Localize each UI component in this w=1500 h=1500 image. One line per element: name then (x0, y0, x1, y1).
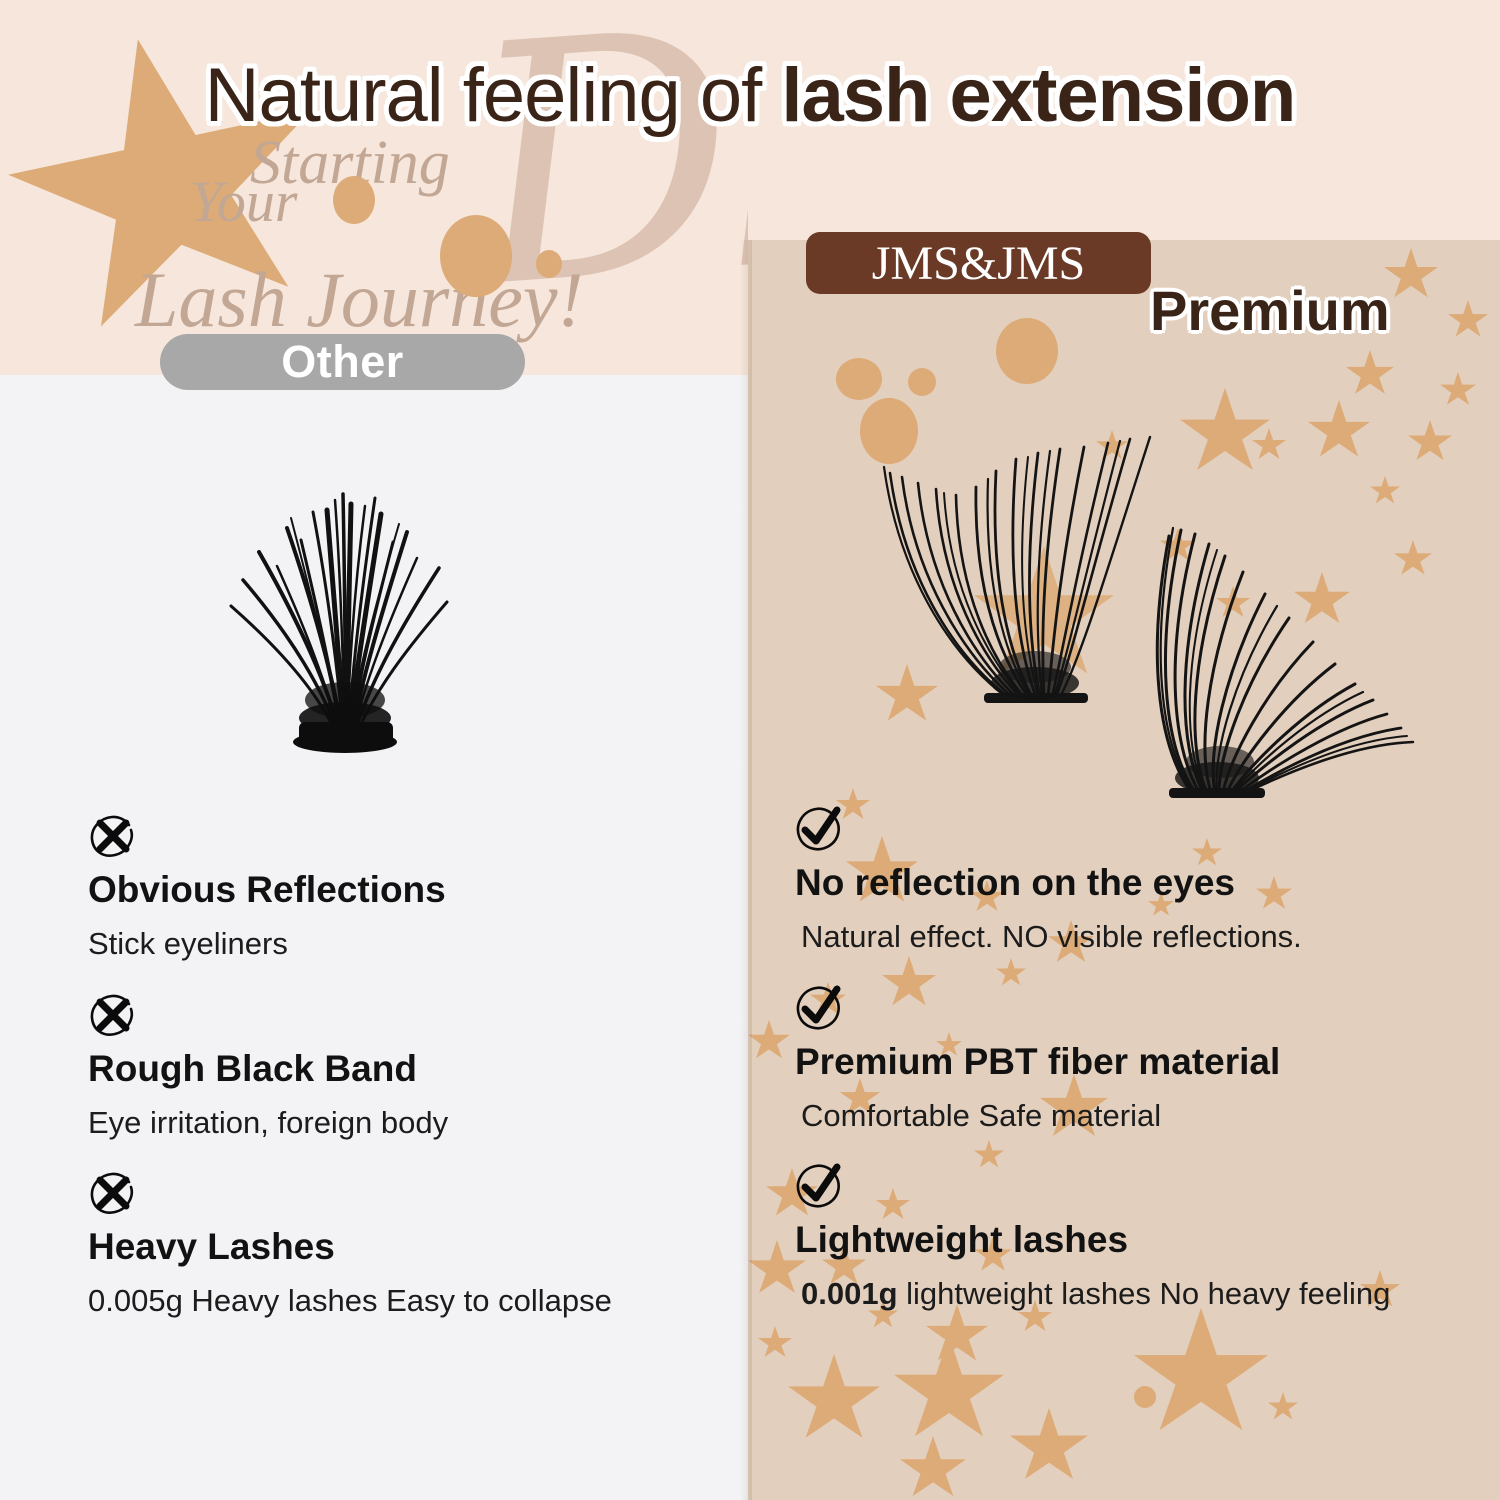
feature-list-premium: No reflection on the eyes Natural effect… (795, 805, 1455, 1341)
feature-list-other: Obvious Reflections Stick eyeliners Roug… (88, 812, 708, 1348)
decorative-star (894, 1336, 1004, 1446)
spiky-lash-cluster-image (195, 470, 495, 760)
feature-item: Heavy Lashes 0.005g Heavy lashes Easy to… (88, 1169, 708, 1320)
feature-title: No reflection on the eyes (795, 859, 1455, 906)
feature-title: Rough Black Band (88, 1045, 708, 1092)
decorative-star (758, 1326, 792, 1360)
decorative-text-lash-journey: Lash Journey! (135, 255, 583, 345)
decorative-dot (536, 250, 562, 278)
feature-subtitle: Stick eyeliners (88, 925, 708, 962)
decorative-dot (996, 318, 1058, 384)
decorative-dot (333, 176, 375, 224)
panel-divider-shadow (740, 240, 752, 1500)
feature-subtitle: 0.001g lightweight lashes No heavy feeli… (795, 1275, 1455, 1312)
feature-subtitle: Natural effect. NO visible reflections. (795, 918, 1455, 955)
decorative-star (1440, 372, 1476, 408)
infographic-root: Diy Starting Your Lash Journey! (0, 0, 1500, 1500)
feature-title: Obvious Reflections (88, 866, 708, 913)
feature-subtitle: 0.005g Heavy lashes Easy to collapse (88, 1282, 708, 1319)
decorative-star (1448, 300, 1488, 340)
decorative-star (1308, 400, 1370, 462)
feature-item: Rough Black Band Eye irritation, foreign… (88, 991, 708, 1142)
curved-lash-cluster-image-b (1125, 500, 1425, 810)
premium-label: Premium (1150, 278, 1390, 343)
cross-circle-icon (88, 812, 138, 862)
feature-item: Lightweight lashes 0.001g lightweight la… (795, 1162, 1455, 1313)
feature-title: Premium PBT fiber material (795, 1038, 1455, 1085)
decorative-star (1010, 1408, 1088, 1486)
decorative-star (900, 1436, 966, 1500)
feature-item: No reflection on the eyes Natural effect… (795, 805, 1455, 956)
decorative-star (1346, 350, 1394, 398)
decorative-text-your: Your (190, 168, 298, 235)
feature-subtitle: Eye irritation, foreign body (88, 1104, 708, 1141)
decorative-dot (908, 368, 936, 396)
page-title: Natural feeling of lash extension (0, 58, 1500, 134)
decorative-star (1408, 420, 1452, 464)
decorative-text-starting: Starting (250, 128, 450, 199)
feature-subtitle: Comfortable Safe material (795, 1097, 1455, 1134)
decorative-star (1252, 428, 1286, 462)
cross-circle-icon (88, 991, 138, 1041)
feature-item: Obvious Reflections Stick eyeliners (88, 812, 708, 963)
decorative-dot (1134, 1386, 1156, 1408)
decorative-star (788, 1354, 880, 1446)
feature-subtitle-rest: lightweight lashes No heavy feeling (898, 1276, 1391, 1311)
decorative-star (748, 1020, 790, 1062)
decorative-star (1180, 388, 1270, 478)
feature-title: Heavy Lashes (88, 1223, 708, 1270)
check-circle-icon (795, 1162, 845, 1212)
decorative-star (1268, 1392, 1298, 1422)
feature-subtitle-strong: 0.001g (801, 1276, 898, 1311)
check-circle-icon (795, 984, 845, 1034)
feature-item: Premium PBT fiber material Comfortable S… (795, 984, 1455, 1135)
page-title-bold: lash extension (781, 53, 1295, 138)
other-badge: Other (160, 334, 525, 390)
page-title-normal: Natural feeling of (205, 53, 782, 138)
feature-title: Lightweight lashes (795, 1216, 1455, 1263)
brand-badge-jms: JMS&JMS (806, 232, 1151, 294)
check-circle-icon (795, 805, 845, 855)
cross-circle-icon (88, 1169, 138, 1219)
decorative-star (1384, 248, 1438, 302)
decorative-dot (836, 358, 882, 400)
decorative-dot (440, 215, 512, 297)
